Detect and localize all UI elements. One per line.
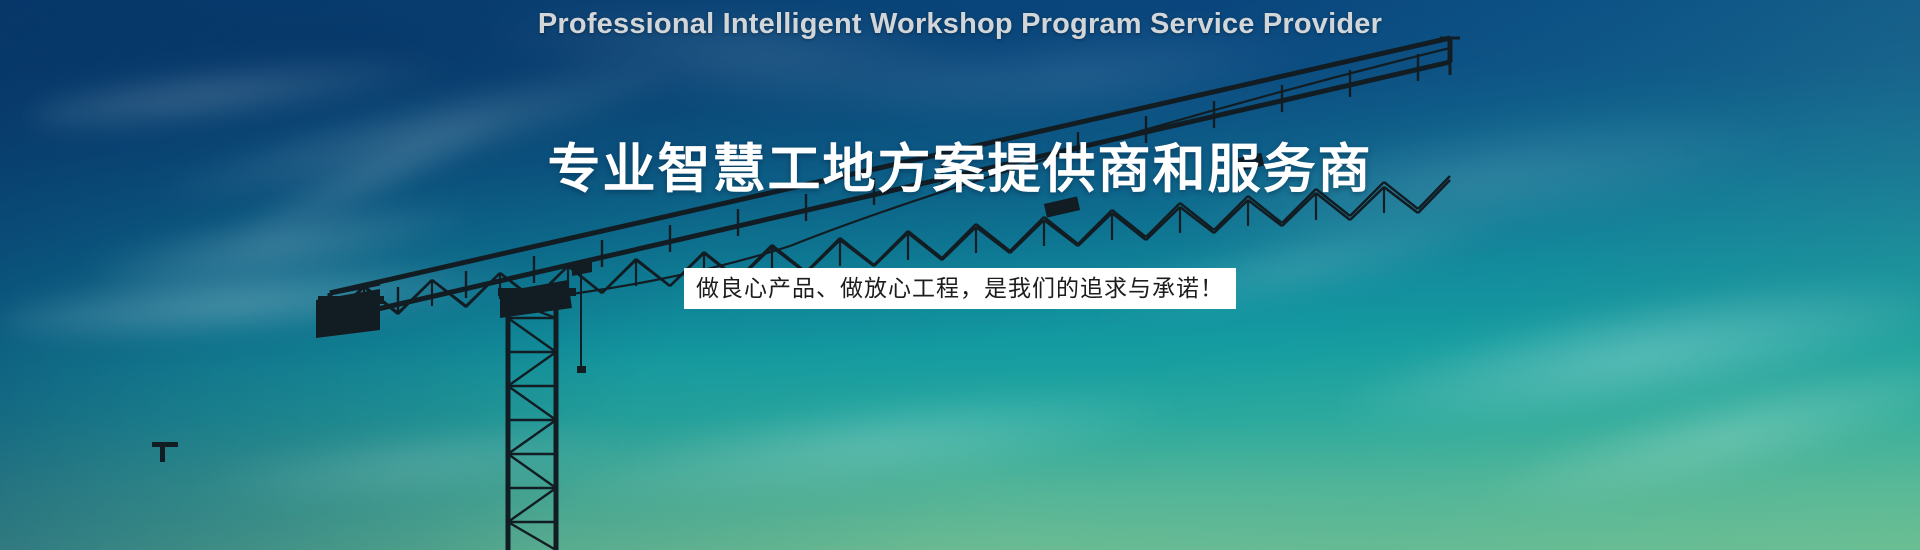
hero-banner: Professional Intelligent Workshop Progra… [0, 0, 1920, 550]
banner-english-title: Professional Intelligent Workshop Progra… [0, 8, 1920, 41]
banner-subtitle: 做良心产品、做放心工程，是我们的追求与承诺！ [684, 268, 1236, 309]
banner-subtitle-container: 做良心产品、做放心工程，是我们的追求与承诺！ [0, 268, 1920, 309]
banner-chinese-title: 专业智慧工地方案提供商和服务商 [0, 127, 1920, 203]
